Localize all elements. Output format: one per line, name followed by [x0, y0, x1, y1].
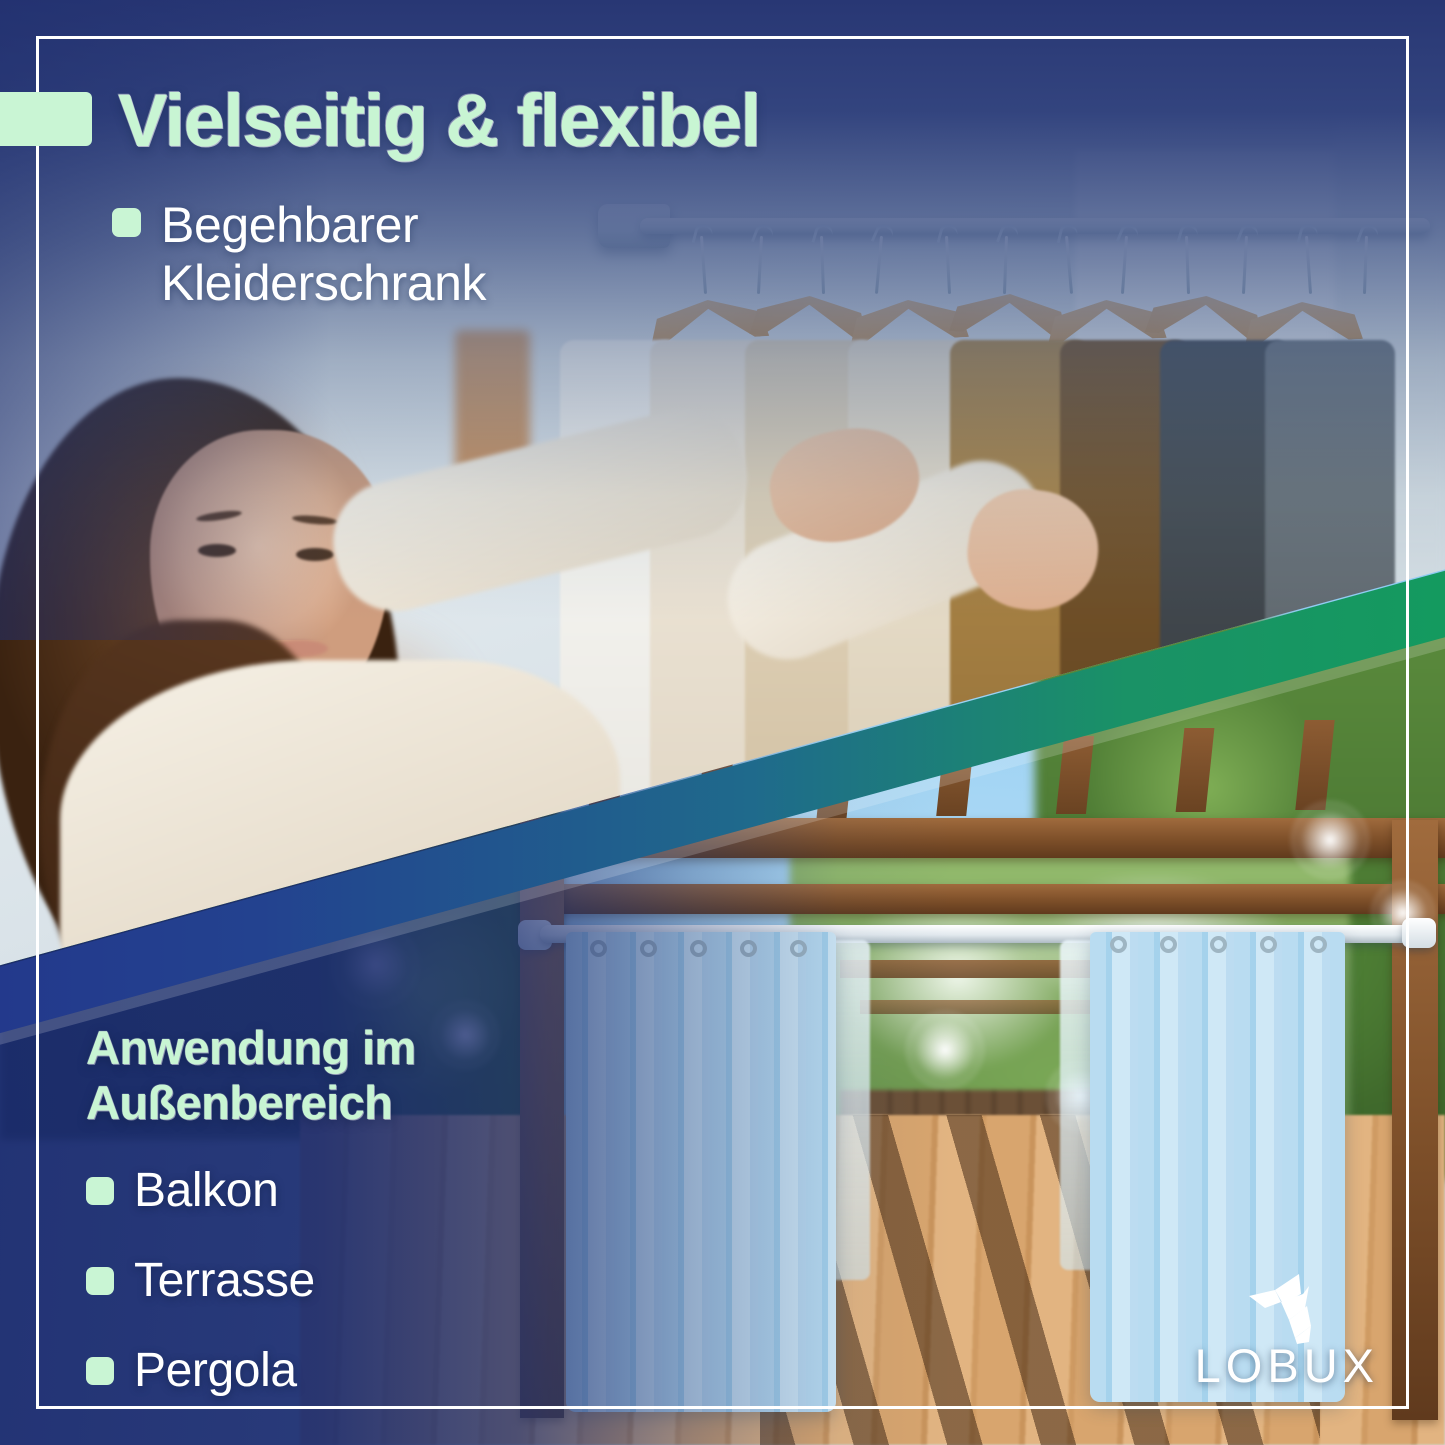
bullet-square-icon [86, 1177, 114, 1205]
list-item: Balkon [86, 1163, 315, 1218]
section-heading-outdoor: Anwendung im Außenbereich [86, 1020, 416, 1131]
list-item: Begehbarer Kleiderschrank [112, 196, 486, 312]
bullet-square-icon [112, 208, 141, 237]
outdoor-bullet-label: Pergola [134, 1343, 297, 1398]
sub-heading-line1: Anwendung im [86, 1021, 416, 1074]
brand-logo: LOBUX [1195, 1272, 1379, 1389]
top-feature-list: Begehbarer Kleiderschrank [112, 196, 486, 312]
bullet-square-icon [86, 1267, 114, 1295]
outdoor-use-list: Balkon Terrasse Pergola [86, 1163, 315, 1398]
bird-origami-icon [1245, 1272, 1329, 1346]
bullet-square-icon [86, 1357, 114, 1385]
page-title: Vielseitig & flexibel [118, 78, 760, 163]
top-bullet-line1: Begehbarer [161, 197, 418, 253]
top-bullet-label: Begehbarer Kleiderschrank [161, 196, 486, 312]
brand-name: LOBUX [1195, 1342, 1379, 1389]
headline-accent-tab [0, 92, 92, 146]
list-item: Pergola [86, 1343, 315, 1398]
outdoor-bullet-label: Balkon [134, 1163, 278, 1218]
list-item: Terrasse [86, 1253, 315, 1308]
infographic-canvas: Vielseitig & flexibel Begehbarer Kleider… [0, 0, 1445, 1445]
sub-heading-line2: Außenbereich [86, 1076, 392, 1129]
outdoor-bullet-label: Terrasse [134, 1253, 315, 1308]
top-bullet-line2: Kleiderschrank [161, 255, 486, 311]
